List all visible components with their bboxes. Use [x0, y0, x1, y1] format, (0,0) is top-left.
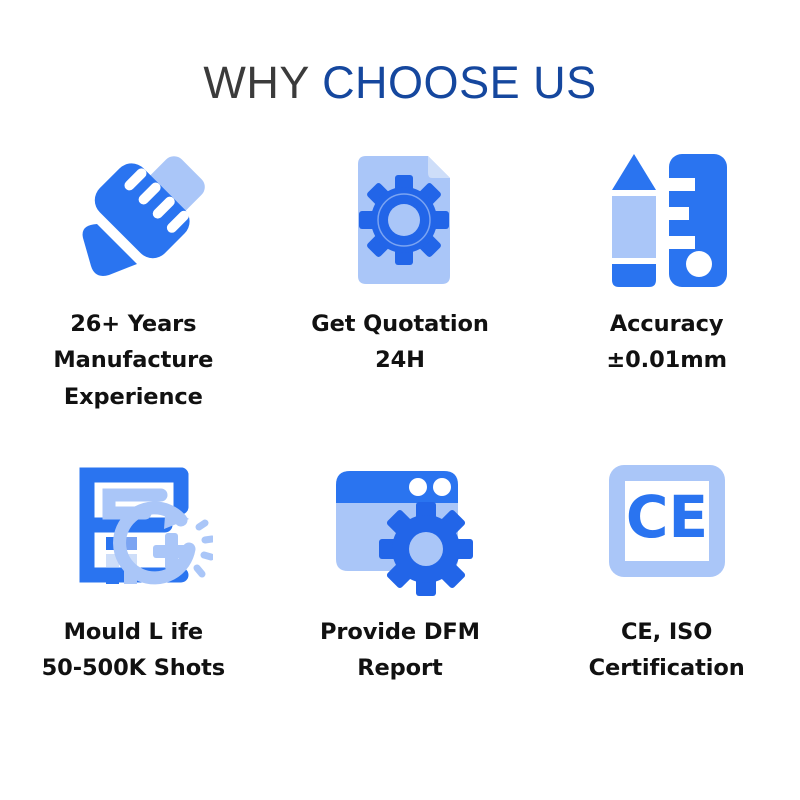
caption-line: 50-500K Shots	[42, 650, 225, 686]
ruler-pencil-icon	[53, 140, 213, 300]
pencil-ruler-icon	[587, 140, 747, 300]
caption-line: Report	[320, 650, 480, 686]
feature-card-dfm-report: Provide DFM Report	[267, 450, 534, 740]
page-title: WHY CHOOSE US	[0, 58, 800, 108]
feature-grid: 26+ Years Manufacture Experience	[0, 140, 800, 740]
caption-line: 26+ Years	[53, 306, 213, 342]
caption-line: Experience	[53, 379, 213, 415]
feature-caption-years-experience: 26+ Years Manufacture Experience	[53, 306, 213, 415]
feature-caption-ce-iso: CE, ISO Certification	[589, 614, 745, 687]
browser-gear-icon	[320, 450, 480, 600]
caption-line: Manufacture	[53, 342, 213, 378]
feature-caption-dfm-report: Provide DFM Report	[320, 614, 480, 687]
caption-line: Provide DFM	[320, 614, 480, 650]
caption-line: ±0.01mm	[606, 342, 727, 378]
ce-mark-icon: CE	[587, 450, 747, 600]
caption-line: Get Quotation	[311, 306, 489, 342]
caption-line: Accuracy	[606, 306, 727, 342]
feature-card-get-quotation: Get Quotation 24H	[267, 140, 534, 450]
feature-card-years-experience: 26+ Years Manufacture Experience	[0, 140, 267, 450]
caption-line: 24H	[311, 342, 489, 378]
why-choose-us-page: WHY CHOOSE US	[0, 0, 800, 800]
document-gear-icon	[320, 140, 480, 300]
feature-card-ce-iso: CE CE, ISO Certification	[533, 450, 800, 740]
ce-mark-text: CE	[626, 483, 708, 551]
feature-caption-mould-life: Mould L ife 50-500K Shots	[42, 614, 225, 687]
page-title-blue-part: CHOOSE US	[322, 57, 597, 108]
feature-card-mould-life: Mould L ife 50-500K Shots	[0, 450, 267, 740]
page-title-dark-part: WHY	[203, 57, 322, 108]
feature-caption-accuracy: Accuracy ±0.01mm	[606, 306, 727, 379]
caption-line: CE, ISO	[589, 614, 745, 650]
caption-line: Mould L ife	[42, 614, 225, 650]
calculator-refresh-plus-icon	[53, 450, 213, 600]
caption-line: Certification	[589, 650, 745, 686]
feature-caption-get-quotation: Get Quotation 24H	[311, 306, 489, 379]
feature-card-accuracy: Accuracy ±0.01mm	[533, 140, 800, 450]
